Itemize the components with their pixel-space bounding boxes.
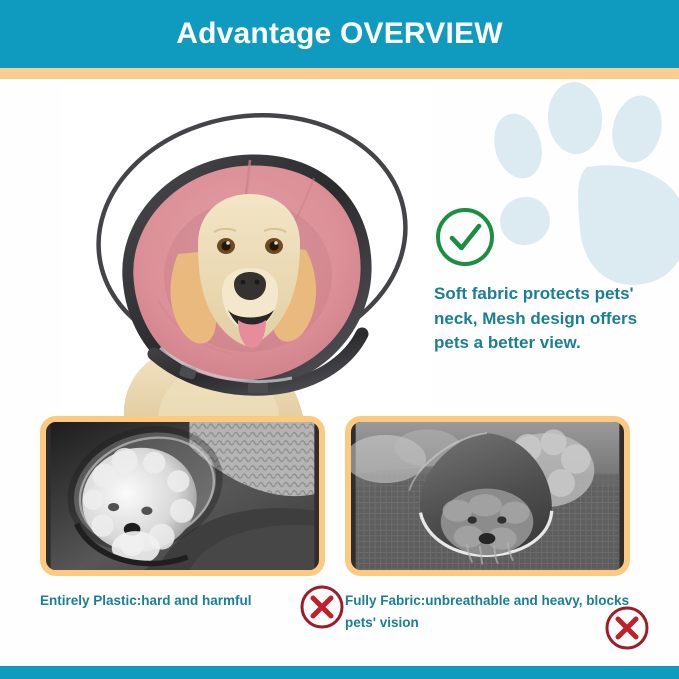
green-check-circle-icon [434,206,496,268]
hero-product-photo [62,86,432,416]
comparison-caption: Entirely Plastic:hard and harmful [40,590,333,612]
footer-bar [0,666,679,679]
benefit-block: Soft fabric protects pets' neck, Mesh de… [434,206,664,356]
comparison-photo-frame [345,416,630,576]
advantage-overview-infographic: Advantage OVERVIEW [0,0,679,679]
fabric-cone-photo [351,422,624,570]
red-x-circle-icon [299,584,345,630]
page-title: Advantage OVERVIEW [176,17,502,51]
header-banner: Advantage OVERVIEW [0,0,679,68]
comparison-caption: Fully Fabric:unbreathable and heavy, blo… [345,590,638,633]
comparison-photo-frame [40,416,325,576]
header-accent-strip [0,68,679,79]
plastic-cone-photo [46,422,319,570]
benefit-text: Soft fabric protects pets' neck, Mesh de… [434,282,664,356]
comparison-card-fabric: Fully Fabric:unbreathable and heavy, blo… [345,416,638,633]
red-x-circle-icon [604,605,650,651]
comparison-card-plastic: Entirely Plastic:hard and harmful [40,416,333,612]
